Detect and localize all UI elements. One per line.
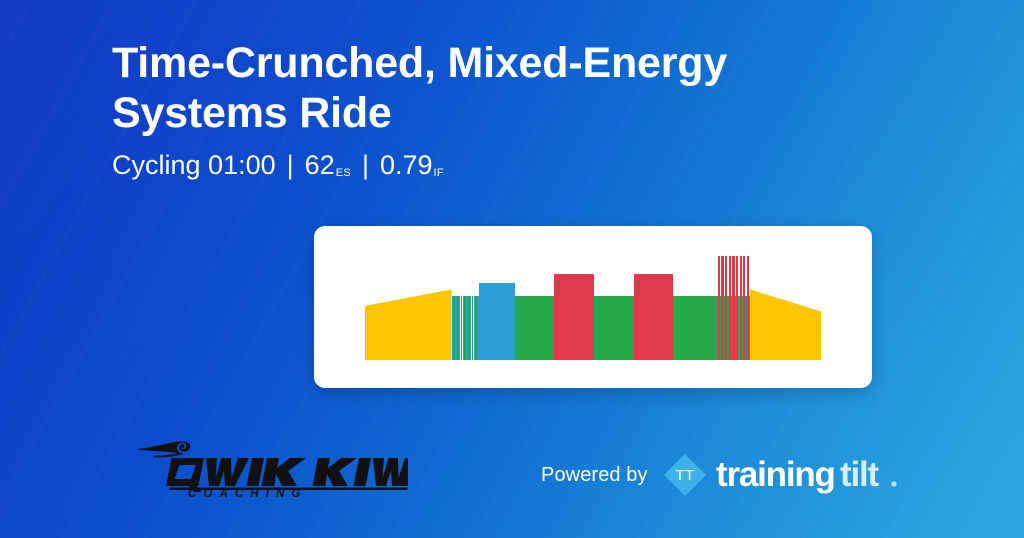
training-tilt-wordmark: training tilt bbox=[716, 453, 956, 497]
summary-separator-1: | bbox=[287, 148, 294, 182]
svg-text:COACHING: COACHING bbox=[188, 488, 307, 498]
chart-interval-stripes bbox=[717, 256, 750, 361]
chart-interval-bar bbox=[743, 256, 745, 361]
qwik-kiwi-coaching-logo: COACHING bbox=[136, 440, 408, 498]
chart-segment-warm-up-ramp bbox=[365, 289, 452, 360]
workout-chart-card bbox=[314, 226, 872, 388]
chart-interval-bar bbox=[732, 256, 734, 361]
chart-segment-endurance-block-1 bbox=[515, 296, 555, 360]
stress-score-unit: ES bbox=[336, 156, 351, 190]
page-title: Time-Crunched, Mixed-Energy Systems Ride bbox=[112, 38, 902, 138]
chart-segment-micro-intervals bbox=[452, 296, 479, 360]
duration-value: 01:00 bbox=[208, 148, 276, 182]
summary-separator-2: | bbox=[362, 148, 369, 182]
chart-interval-bar bbox=[729, 256, 731, 361]
intensity-factor-unit: IF bbox=[434, 156, 444, 190]
chart-interval-bar bbox=[747, 256, 749, 361]
chart-segment-vo2-max-intervals bbox=[717, 256, 750, 361]
chart-segment-cool-down-ramp bbox=[750, 289, 821, 360]
header: Time-Crunched, Mixed-Energy Systems Ride… bbox=[112, 38, 902, 188]
stress-score-value: 62 bbox=[305, 148, 335, 182]
chart-interval-bar bbox=[721, 256, 723, 361]
chart-segment-threshold-block-1 bbox=[554, 274, 594, 360]
training-tilt-diamond-icon: TT bbox=[662, 452, 708, 498]
chart-segment-endurance-block-2 bbox=[594, 296, 634, 360]
powered-by-block: Powered by TT training tilt bbox=[541, 452, 956, 498]
chart-interval-bar bbox=[740, 256, 742, 361]
wordmark-tilt: tilt bbox=[840, 455, 880, 494]
chart-interval-bar bbox=[736, 256, 738, 361]
sport-label: Cycling bbox=[112, 148, 201, 182]
workout-summary-line: Cycling 01:00 | 62 ES | 0.79 IF bbox=[112, 148, 902, 188]
wordmark-dot bbox=[891, 481, 896, 486]
chart-segment-tempo-block-blue bbox=[479, 283, 515, 360]
powered-by-label: Powered by bbox=[541, 464, 648, 487]
chart-segment-threshold-block-2 bbox=[634, 274, 674, 360]
intensity-factor-value: 0.79 bbox=[380, 148, 433, 182]
chart-interval-bar bbox=[718, 256, 720, 361]
wordmark-training: training bbox=[716, 455, 835, 494]
chart-segment-endurance-block-3 bbox=[673, 296, 717, 360]
workout-chart-plot bbox=[365, 250, 821, 360]
chart-interval-bar bbox=[725, 256, 727, 361]
spacer bbox=[201, 148, 209, 182]
tt-monogram: TT bbox=[675, 467, 694, 484]
